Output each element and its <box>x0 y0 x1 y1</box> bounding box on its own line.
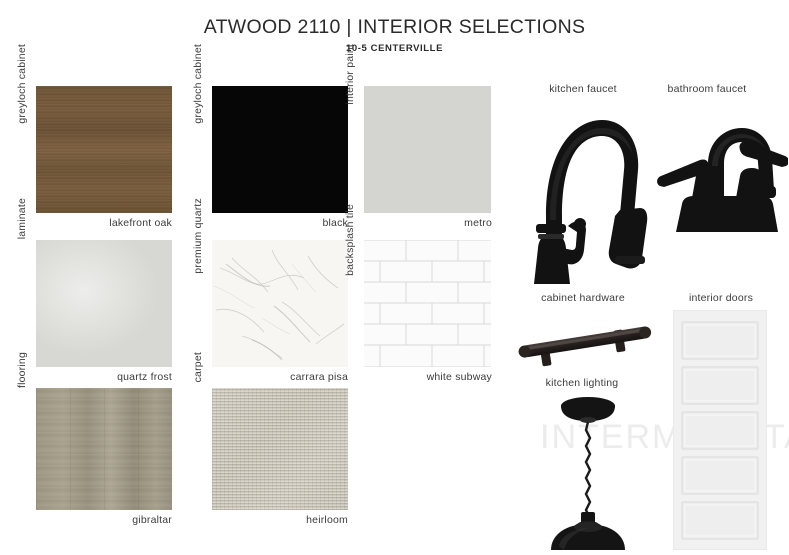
pendant-light-icon <box>533 394 643 550</box>
kitchen-lighting-label: kitchen lighting <box>524 377 640 389</box>
board-header: ATWOOD 2110 | INTERIOR SELECTIONS 10-5 C… <box>0 0 789 54</box>
swatch-category-label: premium quartz <box>192 198 204 326</box>
plank-flooring-texture <box>36 388 172 510</box>
swatch-white-subway[interactable] <box>364 240 491 367</box>
swatch-name-label: black <box>188 217 348 229</box>
swatch-carrara-pisa[interactable] <box>212 240 348 367</box>
interior-doors-label: interior doors <box>663 292 779 304</box>
page-subtitle: 10-5 CENTERVILLE <box>0 43 789 54</box>
bathroom-faucet-icon <box>652 108 788 238</box>
interior-door-icon <box>673 310 767 550</box>
cabinet-bar-pull-icon <box>515 310 655 376</box>
cabinet-bar-pull-image[interactable] <box>515 310 655 381</box>
marble-veining-icon <box>212 240 348 367</box>
carpet-texture <box>212 388 348 510</box>
swatch-category-label: backsplash tile <box>344 204 356 332</box>
pendant-light-image[interactable] <box>533 394 643 555</box>
bathroom-faucet-label: bathroom faucet <box>646 83 768 95</box>
marble-texture <box>212 240 348 367</box>
swatch-lakefront-oak[interactable] <box>36 86 172 213</box>
interior-door-image[interactable] <box>673 310 767 555</box>
kitchen-faucet-icon <box>516 98 656 288</box>
page-title: ATWOOD 2110 | INTERIOR SELECTIONS <box>0 16 789 39</box>
swatch-name-label: metro <box>340 217 492 229</box>
swatch-category-label: greyloch cabinet <box>192 44 204 172</box>
wood-texture <box>36 86 172 213</box>
swatch-category-label: flooring <box>16 352 28 480</box>
swatch-name-label: lakefront oak <box>12 217 172 229</box>
kitchen-faucet-label: kitchen faucet <box>527 83 639 95</box>
solid-color-texture <box>212 86 348 213</box>
cabinet-hardware-label: cabinet hardware <box>522 292 644 304</box>
swatch-metro[interactable] <box>364 86 491 213</box>
kitchen-faucet-image[interactable] <box>516 98 656 293</box>
subway-tile-texture <box>364 240 491 367</box>
swatch-category-label: greyloch cabinet <box>16 44 28 172</box>
swatch-quartz-frost[interactable] <box>36 240 172 367</box>
subway-tile-pattern-icon <box>364 240 491 367</box>
swatch-name-label: white subway <box>340 371 492 383</box>
laminate-texture <box>36 240 172 367</box>
swatch-name-label: gibraltar <box>12 514 172 526</box>
solid-color-texture <box>364 86 491 213</box>
swatch-gibraltar[interactable] <box>36 388 172 510</box>
swatch-category-label: interior paint <box>344 44 356 172</box>
bathroom-faucet-image[interactable] <box>652 108 788 243</box>
swatch-black[interactable] <box>212 86 348 213</box>
swatch-category-label: laminate <box>16 198 28 326</box>
swatch-name-label: heirloom <box>188 514 348 526</box>
swatch-heirloom[interactable] <box>212 388 348 510</box>
swatch-name-label: carrara pisa <box>188 371 348 383</box>
swatch-category-label: carpet <box>192 352 204 480</box>
swatch-name-label: quartz frost <box>12 371 172 383</box>
